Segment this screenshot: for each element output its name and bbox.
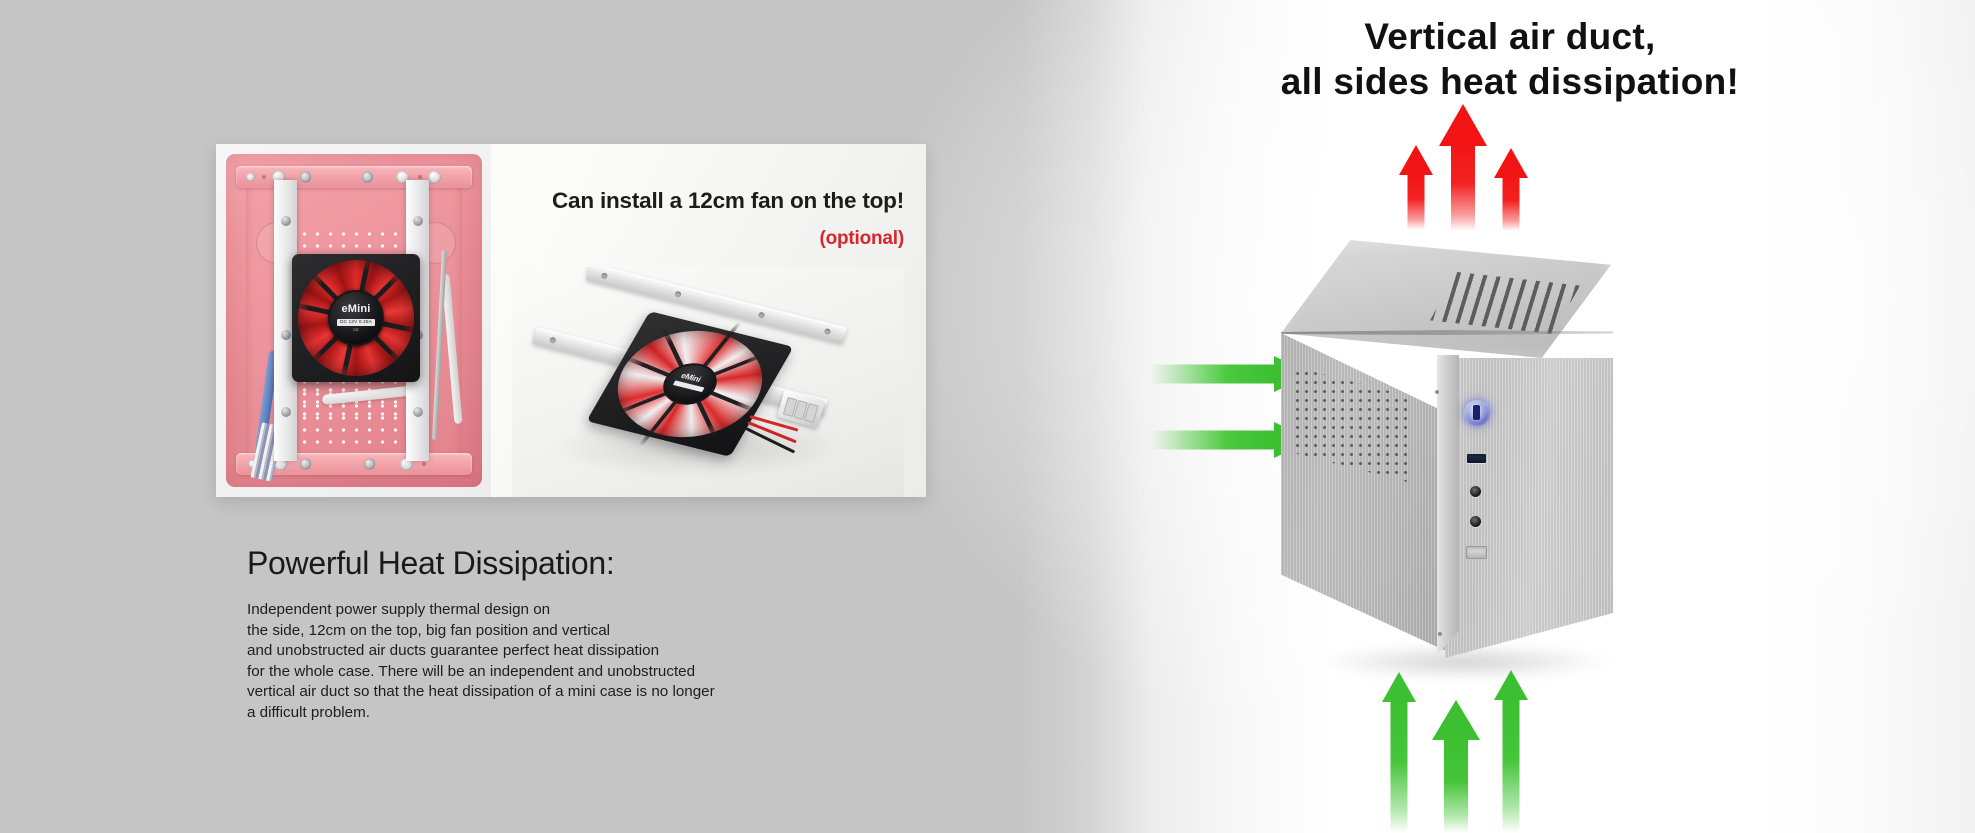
fan-kit-photo: eMini: [512, 267, 904, 497]
exhaust-arrow-center: [1439, 104, 1487, 231]
feature-heading: Powerful Heat Dissipation:: [247, 545, 614, 582]
feature-paragraph: Independent power supply thermal design …: [247, 600, 827, 724]
fan-cert-text: CE: [353, 328, 359, 332]
paragraph-line: a difficult problem.: [247, 703, 827, 724]
usb-2-port[interactable]: [1466, 546, 1487, 559]
fan-spec-strip: [673, 380, 705, 392]
hero-title-line1: Vertical air duct,: [1140, 14, 1880, 59]
microphone-jack[interactable]: [1470, 516, 1481, 527]
product-photo-panel: eMini DC 12V 0.25A CE Can install a 12cm…: [216, 144, 926, 497]
panel-screw: [1435, 390, 1439, 394]
marketing-banner: eMini DC 12V 0.25A CE Can install a 12cm…: [0, 0, 1975, 833]
panel-screw: [1438, 632, 1442, 636]
paragraph-line: Independent power supply thermal design …: [247, 600, 827, 621]
fan-callout-optional: (optional): [504, 228, 904, 250]
case-front-bezel-edge: [1437, 355, 1459, 655]
silver-case-3d: [1255, 240, 1685, 690]
fan-callout-heading: Can install a 12cm fan on the top!: [504, 188, 904, 214]
case-interior-photo: eMini DC 12V 0.25A CE: [216, 144, 491, 497]
installed-12cm-fan: eMini DC 12V 0.25A CE: [292, 254, 420, 382]
fan-brand-text: eMini: [341, 304, 370, 315]
chassis-top-rail: [236, 166, 472, 188]
intake-arrow-bottom-left: [1382, 672, 1416, 833]
intake-arrow-bottom-right: [1494, 670, 1528, 833]
power-button[interactable]: [1464, 400, 1490, 426]
hero-title-line2: all sides heat dissipation!: [1140, 59, 1880, 104]
usb-3-port[interactable]: [1467, 454, 1486, 463]
fan-spec-text: DC 12V 0.25A: [337, 319, 375, 326]
paragraph-line: vertical air duct so that the heat dissi…: [247, 682, 827, 703]
hero-title: Vertical air duct, all sides heat dissip…: [1140, 14, 1880, 104]
exhaust-arrow-left: [1399, 145, 1433, 230]
headphone-jack[interactable]: [1470, 486, 1481, 497]
fan-hub-label: eMini DC 12V 0.25A CE: [328, 290, 384, 346]
intake-arrow-bottom-center: [1432, 700, 1480, 833]
case-chassis: eMini DC 12V 0.25A CE: [226, 154, 482, 487]
exhaust-arrow-right: [1494, 148, 1528, 231]
paragraph-line: the side, 12cm on the top, big fan posit…: [247, 621, 827, 642]
paragraph-line: for the whole case. There will be an ind…: [247, 662, 827, 683]
paragraph-line: and unobstructed air ducts guarantee per…: [247, 641, 827, 662]
